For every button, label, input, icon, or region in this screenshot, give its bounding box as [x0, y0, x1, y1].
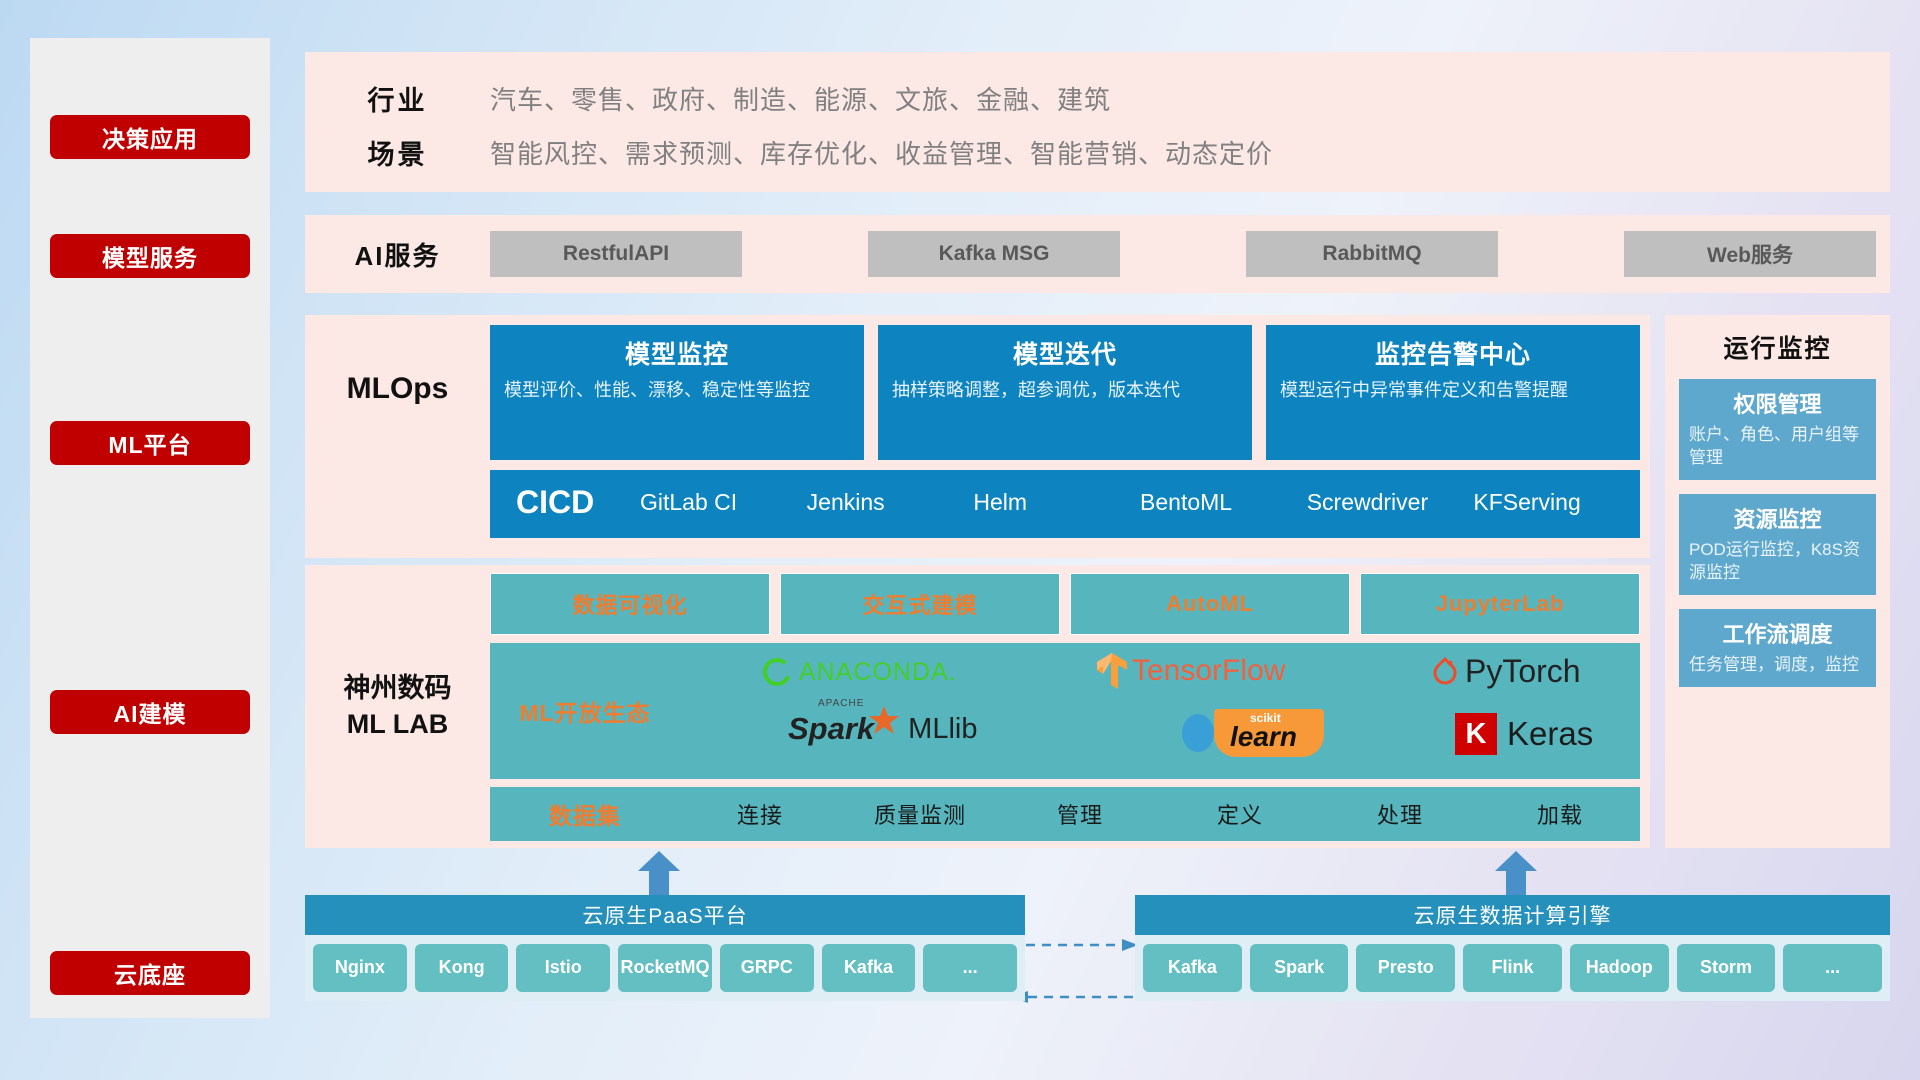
- card-title: 模型迭代: [892, 335, 1238, 371]
- card-desc: 模型运行中异常事件定义和告警提醒: [1280, 379, 1626, 403]
- dataset-band: 数据集 连接 质量监测 管理 定义 处理 加载: [490, 787, 1640, 841]
- pytorch-logo-text: PyTorch: [1465, 653, 1581, 690]
- paas-chip-kong[interactable]: Kong: [415, 944, 509, 992]
- industry-value: 汽车、零售、政府、制造、能源、文旅、金融、建筑: [490, 80, 1111, 117]
- ml-tool-data-visualization[interactable]: 数据可视化: [490, 573, 770, 635]
- ml-tool-jupyterlab[interactable]: JupyterLab: [1360, 573, 1640, 635]
- ai-service-label: AI服务: [305, 236, 490, 273]
- cicd-label: CICD: [490, 470, 640, 521]
- keras-logo-text: Keras: [1507, 715, 1593, 753]
- industry-row: 行业 汽车、零售、政府、制造、能源、文旅、金融、建筑: [305, 72, 1890, 124]
- tensorflow-logo-text: TensorFlow: [1132, 654, 1285, 688]
- engine-chip-more[interactable]: ...: [1783, 944, 1882, 992]
- ai-service-chip-list: RestfulAPI Kafka MSG RabbitMQ Web服务: [490, 231, 1890, 277]
- mlops-card-alert-center[interactable]: 监控告警中心 模型运行中异常事件定义和告警提醒: [1266, 325, 1640, 460]
- dataset-item-management[interactable]: 管理: [1000, 798, 1160, 830]
- anaconda-logo: ANACONDA.: [760, 655, 957, 689]
- engine-chip-kafka[interactable]: Kafka: [1143, 944, 1242, 992]
- card-title: 模型监控: [504, 335, 850, 371]
- card-desc: 任务管理，调度，监控: [1689, 654, 1866, 677]
- scenario-row: 场景 智能风控、需求预测、库存优化、收益管理、智能营销、动态定价: [305, 126, 1890, 178]
- mlops-panel: MLOps 模型监控 模型评价、性能、漂移、稳定性等监控 模型迭代 抽样策略调整…: [305, 315, 1650, 558]
- ml-tool-automl[interactable]: AutoML: [1070, 573, 1350, 635]
- cloud-native-data-engine-title: 云原生数据计算引擎: [1135, 895, 1890, 935]
- dataset-item-quality-monitoring[interactable]: 质量监测: [840, 798, 1000, 830]
- up-arrow-icon-left: [638, 851, 680, 897]
- right-arrow-icon: [1010, 938, 1140, 952]
- ml-tool-list: 数据可视化 交互式建模 AutoML JupyterLab: [490, 573, 1640, 635]
- ml-lab-label: 神州数码 ML LAB: [305, 565, 490, 848]
- rail-badge-ai-modeling[interactable]: AI建模: [50, 690, 250, 734]
- dataset-item-loading[interactable]: 加载: [1480, 798, 1640, 830]
- ml-open-ecosystem-band: ML开放生态 ANACONDA. TensorFlow: [490, 643, 1640, 779]
- ml-tool-interactive-modeling[interactable]: 交互式建模: [780, 573, 1060, 635]
- dataset-item-definition[interactable]: 定义: [1160, 798, 1320, 830]
- monitor-card-resource[interactable]: 资源监控 POD运行监控，K8S资源监控: [1679, 494, 1876, 595]
- card-desc: 模型评价、性能、漂移、稳定性等监控: [504, 379, 850, 403]
- spark-logo-sub: APACHE: [818, 698, 864, 709]
- pytorch-logo: PyTorch: [1430, 653, 1581, 690]
- industry-label: 行业: [305, 79, 490, 118]
- ai-chip-web-service[interactable]: Web服务: [1624, 231, 1876, 277]
- engine-chip-spark[interactable]: Spark: [1250, 944, 1349, 992]
- left-arrow-icon: [1010, 990, 1140, 1004]
- rail-badge-decision-app[interactable]: 决策应用: [50, 115, 250, 159]
- dataset-item-processing[interactable]: 处理: [1320, 798, 1480, 830]
- card-desc: POD运行监控，K8S资源监控: [1689, 539, 1866, 585]
- cloud-native-data-engine-chip-list: Kafka Spark Presto Flink Hadoop Storm ..…: [1135, 935, 1890, 1001]
- monitor-card-permission[interactable]: 权限管理 账户、角色、用户组等管理: [1679, 379, 1876, 480]
- cicd-item-bentoml[interactable]: BentoML: [1140, 470, 1307, 517]
- ml-logo-area: ANACONDA. TensorFlow PyTorch: [680, 643, 1640, 779]
- ml-open-ecosystem-label: ML开放生态: [490, 694, 680, 728]
- anaconda-logo-text: ANACONDA.: [799, 658, 957, 687]
- ai-chip-rabbitmq[interactable]: RabbitMQ: [1246, 231, 1498, 277]
- cloud-native-data-engine-group: 云原生数据计算引擎 Kafka Spark Presto Flink Hadoo…: [1135, 895, 1890, 1001]
- keras-logo: K Keras: [1455, 713, 1593, 755]
- engine-chip-hadoop[interactable]: Hadoop: [1570, 944, 1669, 992]
- monitor-card-workflow[interactable]: 工作流调度 任务管理，调度，监控: [1679, 609, 1876, 687]
- cicd-item-helm[interactable]: Helm: [973, 470, 1140, 517]
- cicd-bar: CICD GitLab CI Jenkins Helm BentoML Scre…: [490, 470, 1640, 538]
- paas-chip-rocketmq[interactable]: RocketMQ: [618, 944, 712, 992]
- ai-service-panel: AI服务 RestfulAPI Kafka MSG RabbitMQ Web服务: [305, 215, 1890, 293]
- mllib-text: MLlib: [908, 713, 977, 746]
- paas-chip-kafka[interactable]: Kafka: [822, 944, 916, 992]
- engine-chip-flink[interactable]: Flink: [1463, 944, 1562, 992]
- paas-chip-grpc[interactable]: GRPC: [720, 944, 814, 992]
- runtime-monitoring-title: 运行监控: [1665, 315, 1890, 365]
- engine-chip-presto[interactable]: Presto: [1356, 944, 1455, 992]
- ai-chip-restfulapi[interactable]: RestfulAPI: [490, 231, 742, 277]
- scikit-learn-logo: scikit learn: [1180, 709, 1324, 757]
- paas-chip-nginx[interactable]: Nginx: [313, 944, 407, 992]
- card-title: 资源监控: [1689, 502, 1866, 534]
- dataset-item-connect[interactable]: 连接: [680, 798, 840, 830]
- mlops-card-model-monitoring[interactable]: 模型监控 模型评价、性能、漂移、稳定性等监控: [490, 325, 864, 460]
- mlops-card-list: 模型监控 模型评价、性能、漂移、稳定性等监控 模型迭代 抽样策略调整，超参调优，…: [490, 325, 1640, 460]
- spark-logo: APACHE Spark MLlib: [788, 711, 977, 747]
- card-title: 权限管理: [1689, 387, 1866, 419]
- ml-lab-label-line1: 神州数码: [344, 671, 452, 706]
- mlops-label: MLOps: [305, 315, 490, 463]
- card-title: 工作流调度: [1689, 617, 1866, 649]
- cicd-item-screwdriver[interactable]: Screwdriver: [1307, 470, 1474, 517]
- cicd-item-gitlab-ci[interactable]: GitLab CI: [640, 470, 807, 517]
- cloud-native-paas-title: 云原生PaaS平台: [305, 895, 1025, 935]
- engine-chip-storm[interactable]: Storm: [1677, 944, 1776, 992]
- ai-chip-kafka-msg[interactable]: Kafka MSG: [868, 231, 1120, 277]
- card-title: 监控告警中心: [1280, 335, 1626, 371]
- dataset-label: 数据集: [490, 797, 680, 831]
- cloud-native-paas-chip-list: Nginx Kong Istio RocketMQ GRPC Kafka ...: [305, 935, 1025, 1001]
- tensorflow-logo: TensorFlow: [1095, 651, 1285, 691]
- spark-logo-text: Spark: [788, 711, 874, 746]
- scenario-label: 场景: [305, 133, 490, 172]
- rail-badge-model-service[interactable]: 模型服务: [50, 234, 250, 278]
- card-desc: 抽样策略调整，超参调优，版本迭代: [892, 379, 1238, 403]
- ml-lab-panel: 神州数码 ML LAB 数据可视化 交互式建模 AutoML JupyterLa…: [305, 565, 1650, 848]
- learn-text: learn: [1230, 721, 1297, 753]
- paas-chip-istio[interactable]: Istio: [516, 944, 610, 992]
- decision-application-panel: 行业 汽车、零售、政府、制造、能源、文旅、金融、建筑 场景 智能风控、需求预测、…: [305, 52, 1890, 192]
- layer-rail: 决策应用 模型服务 ML平台 AI建模 云底座: [30, 38, 270, 1018]
- up-arrow-icon-right: [1495, 851, 1537, 897]
- paas-chip-more[interactable]: ...: [923, 944, 1017, 992]
- runtime-monitoring-panel: 运行监控 权限管理 账户、角色、用户组等管理 资源监控 POD运行监控，K8S资…: [1665, 315, 1890, 848]
- card-desc: 账户、角色、用户组等管理: [1689, 424, 1866, 470]
- cicd-item-kfserving[interactable]: KFServing: [1473, 470, 1640, 517]
- cloud-native-paas-group: 云原生PaaS平台 Nginx Kong Istio RocketMQ GRPC…: [305, 895, 1025, 1001]
- scenario-value: 智能风控、需求预测、库存优化、收益管理、智能营销、动态定价: [490, 134, 1273, 171]
- architecture-diagram: 决策应用 模型服务 ML平台 AI建模 云底座 行业 汽车、零售、政府、制造、能…: [0, 0, 1920, 1080]
- rail-badge-cloud-base[interactable]: 云底座: [50, 951, 250, 995]
- cicd-item-jenkins[interactable]: Jenkins: [807, 470, 974, 517]
- mlops-card-model-iteration[interactable]: 模型迭代 抽样策略调整，超参调优，版本迭代: [878, 325, 1252, 460]
- rail-badge-ml-platform[interactable]: ML平台: [50, 421, 250, 465]
- ml-lab-label-line2: ML LAB: [347, 707, 449, 742]
